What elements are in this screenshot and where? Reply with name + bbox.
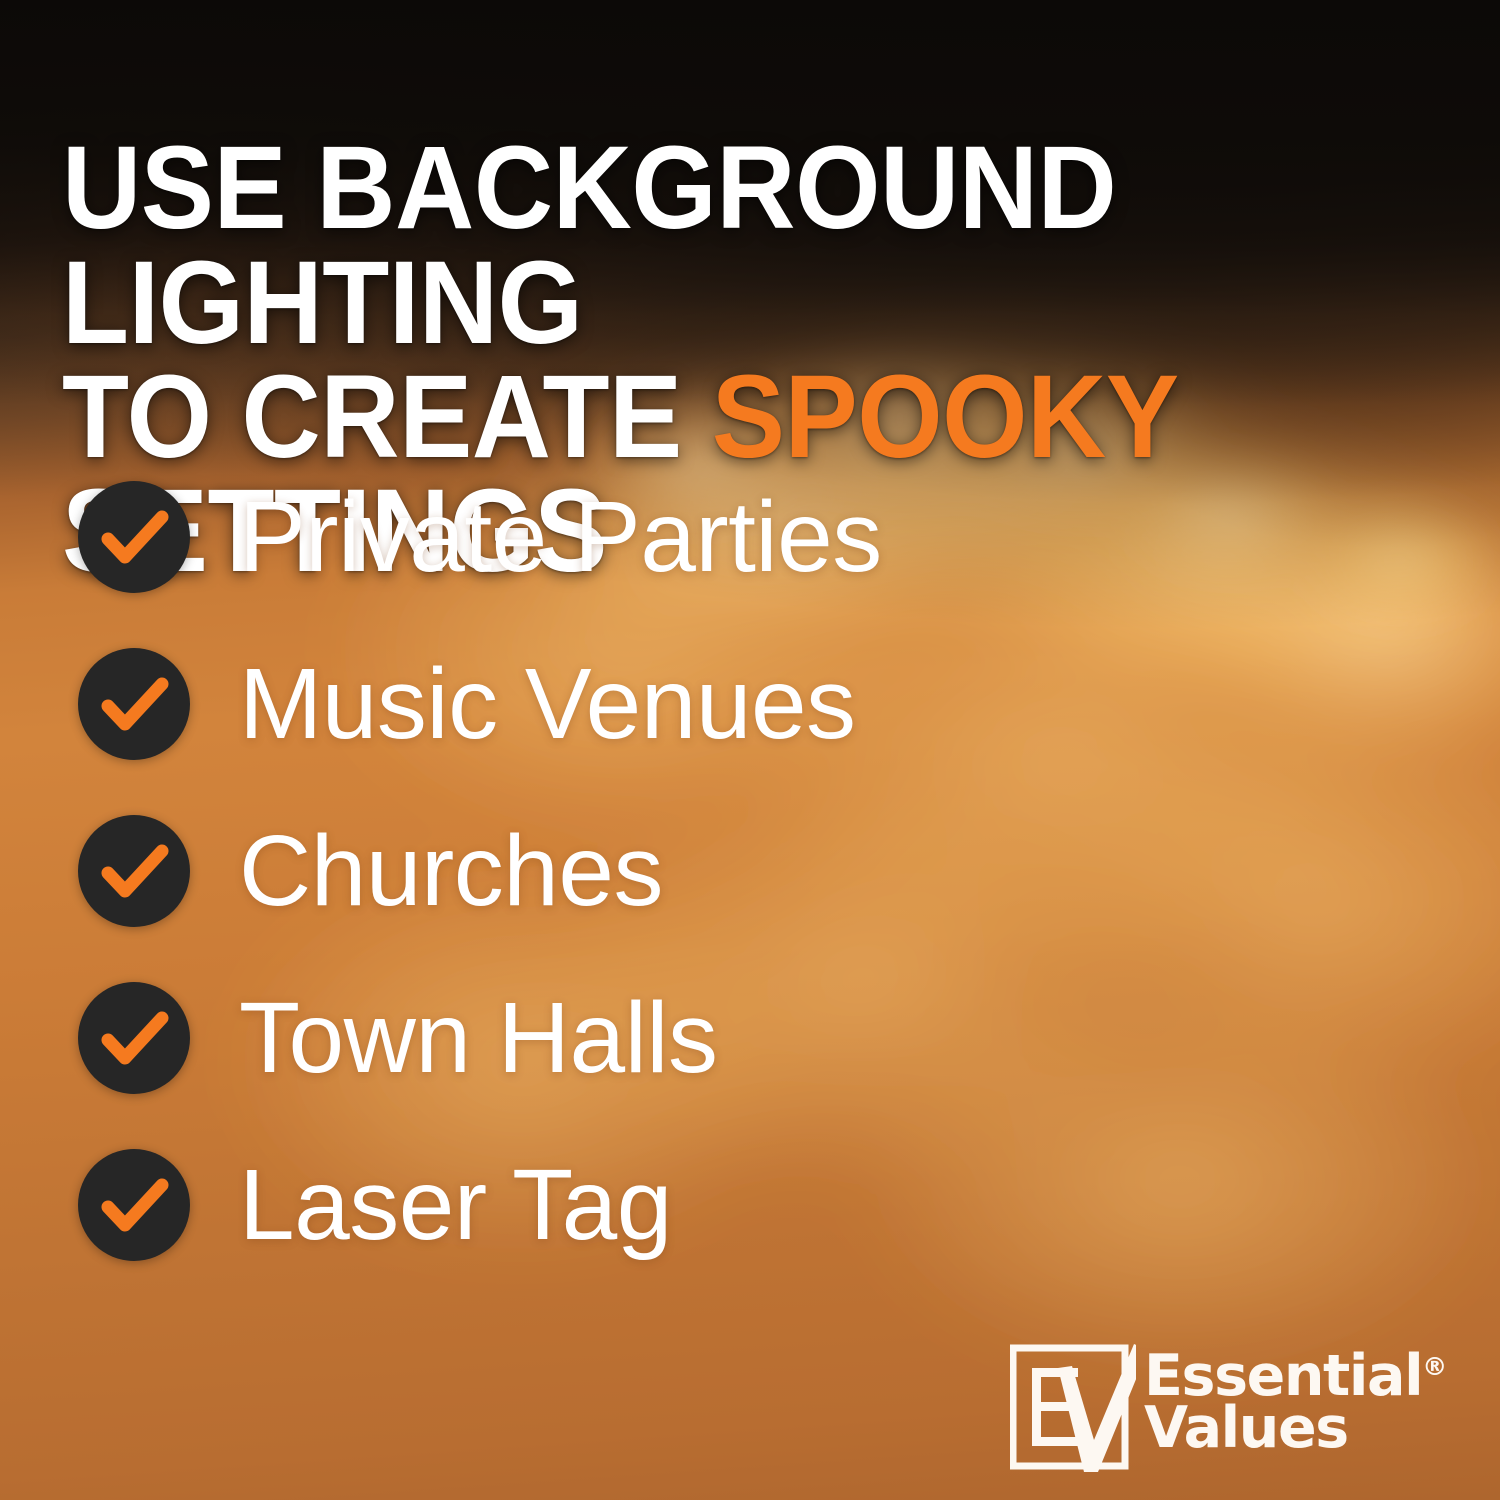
- brand-line-2: Values: [1144, 1402, 1447, 1454]
- list-item-label: Town Halls: [239, 988, 718, 1088]
- ev-monogram-icon: [1010, 1344, 1136, 1474]
- brand-wordmark: Essential® Values: [1144, 1350, 1447, 1455]
- headline-accent-word: SPOOKY: [712, 351, 1177, 483]
- feature-list: Private Parties Music Venues Churches: [78, 478, 1178, 1264]
- registered-mark-icon: ®: [1422, 1352, 1447, 1381]
- checkmark-icon: [78, 982, 190, 1094]
- list-item: Private Parties: [78, 478, 1178, 596]
- list-item: Town Halls: [78, 979, 1178, 1097]
- checkmark-glyph: [78, 481, 190, 593]
- list-item-label: Churches: [239, 821, 663, 921]
- ev-monogram-glyph: [1010, 1344, 1136, 1474]
- checkmark-glyph: [78, 648, 190, 760]
- brand-logo: Essential® Values: [1010, 1344, 1447, 1474]
- checkmark-glyph: [78, 1149, 190, 1261]
- list-item: Laser Tag: [78, 1146, 1178, 1264]
- headline-line-1: USE BACKGROUND LIGHTING: [62, 122, 1116, 368]
- headline-line-2-before: TO CREATE: [62, 351, 712, 483]
- poster-canvas: USE BACKGROUND LIGHTING TO CREATE SPOOKY…: [0, 0, 1500, 1500]
- checkmark-icon: [78, 648, 190, 760]
- checkmark-glyph: [78, 815, 190, 927]
- checkmark-icon: [78, 815, 190, 927]
- list-item: Churches: [78, 812, 1178, 930]
- list-item-label: Private Parties: [239, 487, 882, 587]
- checkmark-icon: [78, 1149, 190, 1261]
- checkmark-icon: [78, 481, 190, 593]
- list-item: Music Venues: [78, 645, 1178, 763]
- checkmark-glyph: [78, 982, 190, 1094]
- list-item-label: Laser Tag: [239, 1155, 672, 1255]
- list-item-label: Music Venues: [239, 654, 856, 754]
